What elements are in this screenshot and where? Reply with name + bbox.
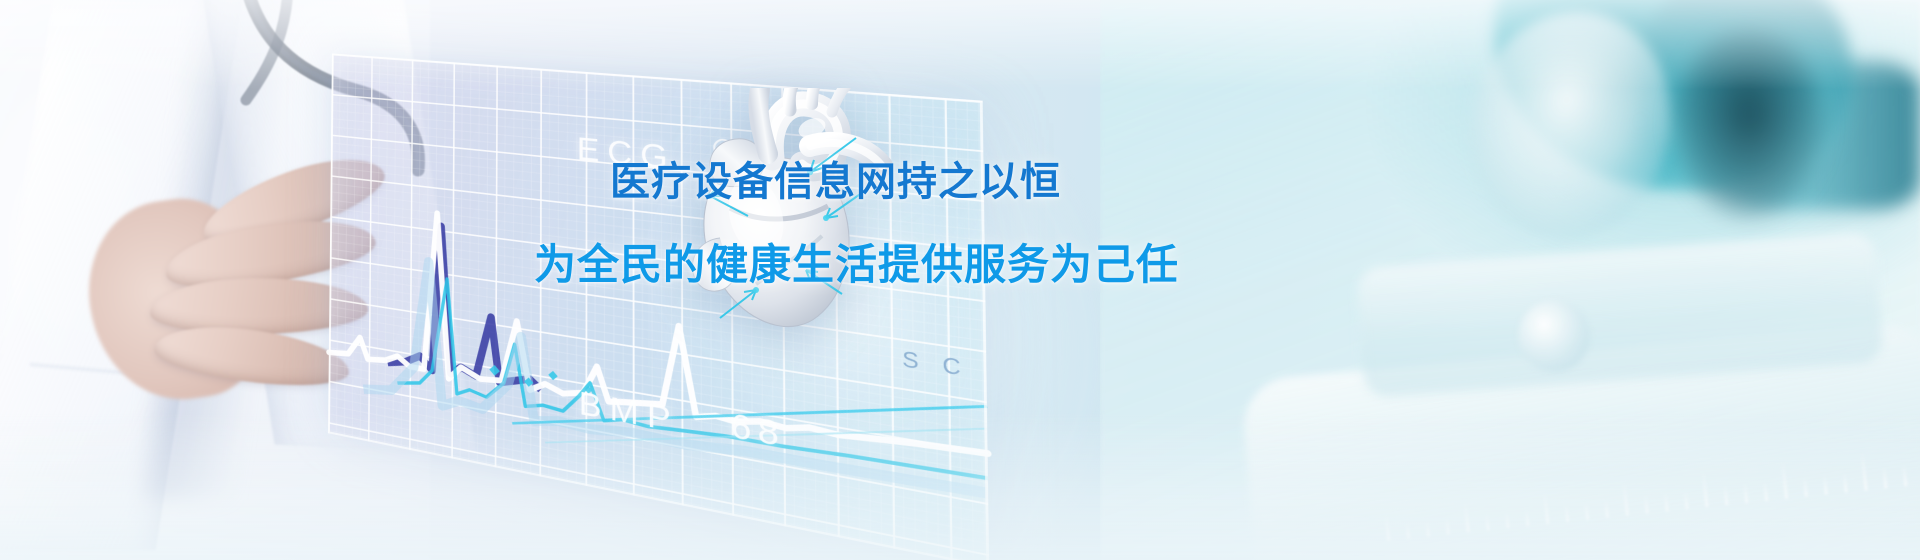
banner-headline: 医疗设备信息网持之以恒 为全民的健康生活提供服务为己任 <box>604 162 1179 286</box>
headline-line-1: 医疗设备信息网持之以恒 <box>610 162 1179 202</box>
laboratory-equipment <box>1100 0 1920 560</box>
medical-hero-banner: ECG BMP 68 S C <box>0 0 1920 560</box>
microscope-eyepiece <box>1674 28 1824 218</box>
headline-line-2: 为全民的健康生活提供服务为己任 <box>534 244 1179 286</box>
microscope-focus-knob <box>1518 300 1590 372</box>
